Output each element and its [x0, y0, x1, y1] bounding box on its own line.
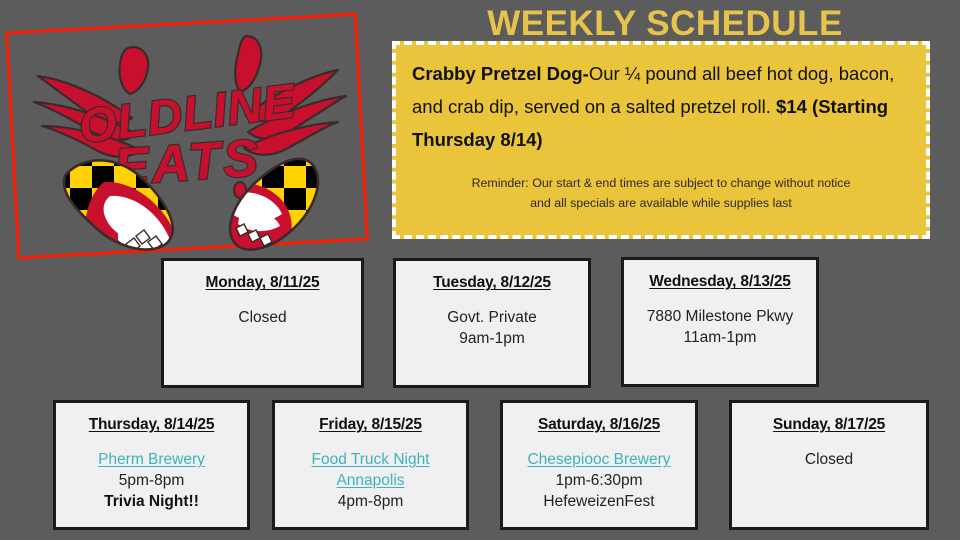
- day-detail-line: Closed: [732, 449, 926, 470]
- day-card-tuesday[interactable]: Tuesday, 8/12/25 Govt. Private9am-1pm: [393, 258, 591, 388]
- day-title: Monday, 8/11/25: [164, 273, 361, 293]
- day-title: Thursday, 8/14/25: [56, 415, 247, 435]
- day-detail-line: HefeweizenFest: [503, 491, 695, 512]
- special-reminder: Reminder: Our start & end times are subj…: [412, 173, 910, 213]
- day-detail-line: 11am-1pm: [624, 327, 816, 348]
- weekly-special-box: Crabby Pretzel Dog-Our ¼ pound all beef …: [392, 41, 930, 239]
- day-detail-line: 7880 Milestone Pkwy: [624, 306, 816, 327]
- day-detail-line: Closed: [164, 307, 361, 328]
- day-body: Closed: [732, 449, 926, 470]
- day-title: Wednesday, 8/13/25: [624, 272, 816, 292]
- day-card-sunday[interactable]: Sunday, 8/17/25 Closed: [729, 400, 929, 530]
- special-description: Crabby Pretzel Dog-Our ¼ pound all beef …: [412, 57, 910, 156]
- day-detail-line: Govt. Private: [396, 307, 588, 328]
- day-card-wednesday[interactable]: Wednesday, 8/13/25 7880 Milestone Pkwy11…: [621, 257, 819, 387]
- day-title: Sunday, 8/17/25: [732, 415, 926, 435]
- slide-canvas: OLDLINE EATS: [0, 0, 960, 540]
- day-body: Chesepiooc Brewery1pm-6:30pmHefeweizenFe…: [503, 449, 695, 512]
- day-detail-line: 1pm-6:30pm: [503, 470, 695, 491]
- reminder-line-1: Reminder: Our start & end times are subj…: [412, 173, 910, 193]
- day-title: Saturday, 8/16/25: [503, 415, 695, 435]
- day-title: Tuesday, 8/12/25: [396, 273, 588, 293]
- day-card-thursday[interactable]: Thursday, 8/14/25 Pherm Brewery5pm-8pmTr…: [53, 400, 250, 530]
- day-detail-line: 9am-1pm: [396, 328, 588, 349]
- day-card-friday[interactable]: Friday, 8/15/25 Food Truck NightAnnapoli…: [272, 400, 469, 530]
- day-card-saturday[interactable]: Saturday, 8/16/25 Chesepiooc Brewery1pm-…: [500, 400, 698, 530]
- oldline-eats-crab-logo: OLDLINE EATS: [8, 14, 368, 254]
- venue-link[interactable]: Annapolis: [275, 470, 466, 491]
- day-detail-line: 5pm-8pm: [56, 470, 247, 491]
- day-card-monday[interactable]: Monday, 8/11/25 Closed: [161, 258, 364, 388]
- reminder-line-2: and all specials are available while sup…: [412, 193, 910, 213]
- venue-link[interactable]: Food Truck Night: [275, 449, 466, 470]
- day-body: Closed: [164, 307, 361, 328]
- page-title: WEEKLY SCHEDULE: [395, 4, 935, 44]
- day-detail-line: 4pm-8pm: [275, 491, 466, 512]
- day-detail-line: Trivia Night!!: [56, 491, 247, 512]
- venue-link[interactable]: Chesepiooc Brewery: [503, 449, 695, 470]
- day-body: Pherm Brewery5pm-8pmTrivia Night!!: [56, 449, 247, 512]
- day-body: 7880 Milestone Pkwy11am-1pm: [624, 306, 816, 348]
- day-body: Food Truck NightAnnapolis4pm-8pm: [275, 449, 466, 512]
- venue-link[interactable]: Pherm Brewery: [56, 449, 247, 470]
- special-item-name: Crabby Pretzel Dog-: [412, 63, 589, 84]
- brand-logo-panel: OLDLINE EATS: [8, 14, 368, 254]
- day-body: Govt. Private9am-1pm: [396, 307, 588, 349]
- day-title: Friday, 8/15/25: [275, 415, 466, 435]
